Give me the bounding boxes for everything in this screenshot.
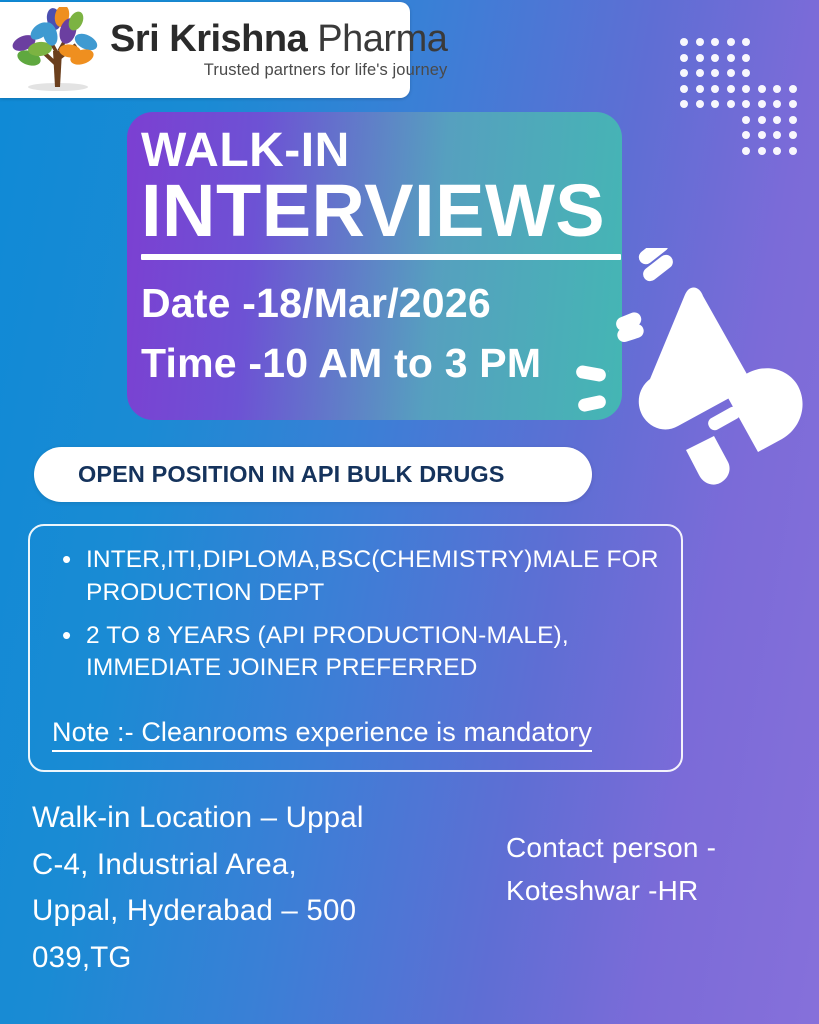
grid-dot: [742, 38, 750, 46]
dot-grid-icon: [680, 38, 800, 162]
grid-dot: [773, 85, 781, 93]
grid-dot: [773, 100, 781, 108]
grid-dot: [773, 147, 781, 155]
walkin-location-block: Walk-in Location – Uppal C-4, Industrial…: [32, 795, 462, 981]
brand-text: Sri Krishna Pharma Trusted partners for …: [110, 20, 447, 81]
grid-dot: [789, 100, 797, 108]
grid-dot: [773, 116, 781, 124]
banner-line-2: INTERVIEWS: [141, 174, 622, 248]
grid-dot: [727, 69, 735, 77]
grid-dot: [758, 85, 766, 93]
grid-dot: [789, 116, 797, 124]
banner-time: Time -10 AM to 3 PM: [141, 334, 622, 393]
grid-dot: [696, 54, 704, 62]
grid-dot: [711, 38, 719, 46]
grid-dot: [711, 69, 719, 77]
address-line-3: 039,TG: [32, 935, 462, 982]
brand-logo-card: Sri Krishna Pharma Trusted partners for …: [0, 2, 410, 98]
tree-icon: [10, 7, 106, 93]
grid-dot: [696, 100, 704, 108]
requirements-list: INTER,ITI,DIPLOMA,BSC(CHEMISTRY)MALE FOR…: [52, 544, 659, 685]
mandatory-note: Note :- Cleanrooms experience is mandato…: [52, 717, 592, 752]
contact-line-1: Contact person -: [506, 827, 806, 870]
grid-dot: [680, 69, 688, 77]
location-label: Walk-in Location – Uppal: [32, 795, 462, 842]
brand-tagline: Trusted partners for life's journey: [110, 61, 447, 80]
grid-dot: [727, 54, 735, 62]
banner-date: Date -18/Mar/2026: [141, 274, 622, 333]
grid-dot: [727, 38, 735, 46]
address-line-1: C-4, Industrial Area,: [32, 842, 462, 889]
grid-dot: [742, 147, 750, 155]
grid-dot: [696, 69, 704, 77]
grid-dot: [789, 131, 797, 139]
grid-dot: [680, 100, 688, 108]
address-line-2: Uppal, Hyderabad – 500: [32, 888, 462, 935]
list-item: INTER,ITI,DIPLOMA,BSC(CHEMISTRY)MALE FOR…: [52, 544, 659, 610]
grid-dot: [742, 85, 750, 93]
grid-dot: [742, 100, 750, 108]
grid-dot: [696, 38, 704, 46]
grid-dot: [696, 85, 704, 93]
job-poster: Sri Krishna Pharma Trusted partners for …: [0, 0, 819, 1024]
grid-dot: [789, 147, 797, 155]
grid-dot: [711, 54, 719, 62]
brand-name-bold: Sri Krishna: [110, 18, 307, 60]
grid-dot: [680, 85, 688, 93]
grid-dot: [773, 131, 781, 139]
open-position-banner: OPEN POSITION IN API BULK DRUGS: [34, 447, 592, 502]
grid-dot: [727, 85, 735, 93]
grid-dot: [758, 116, 766, 124]
grid-dot: [711, 100, 719, 108]
grid-dot: [758, 131, 766, 139]
brand-name-light: Pharma: [317, 18, 447, 60]
open-position-label: OPEN POSITION IN API BULK DRUGS: [78, 461, 505, 488]
grid-dot: [711, 85, 719, 93]
grid-dot: [680, 38, 688, 46]
contact-person-block: Contact person - Koteshwar -HR: [506, 827, 806, 912]
contact-line-2: Koteshwar -HR: [506, 870, 806, 913]
grid-dot: [742, 116, 750, 124]
requirements-box: INTER,ITI,DIPLOMA,BSC(CHEMISTRY)MALE FOR…: [28, 524, 683, 772]
list-item: 2 TO 8 YEARS (API PRODUCTION-MALE), IMME…: [52, 620, 659, 686]
grid-dot: [680, 54, 688, 62]
grid-dot: [742, 54, 750, 62]
megaphone-icon: [608, 248, 818, 498]
grid-dot: [742, 131, 750, 139]
grid-dot: [727, 100, 735, 108]
grid-dot: [758, 147, 766, 155]
grid-dot: [742, 69, 750, 77]
grid-dot: [789, 85, 797, 93]
banner-underline: [141, 254, 621, 260]
headline-banner: WALK-IN INTERVIEWS Date -18/Mar/2026 Tim…: [127, 112, 622, 420]
grid-dot: [758, 100, 766, 108]
brand-name: Sri Krishna Pharma: [110, 20, 447, 60]
